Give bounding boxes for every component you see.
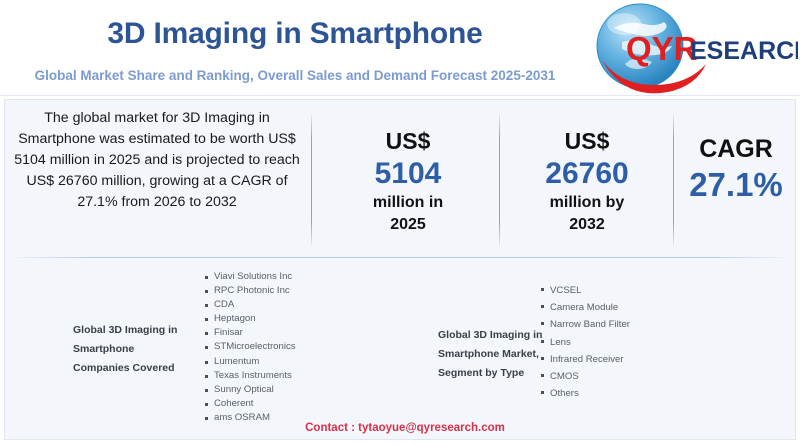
list-item: STMicroelectronics bbox=[205, 340, 296, 354]
logo-accent-text: QYR bbox=[626, 30, 698, 67]
companies-list: Viavi Solutions Inc RPC Photonic Inc CDA… bbox=[205, 270, 296, 425]
list-item: Texas Instruments bbox=[205, 369, 296, 383]
divider-vertical-2 bbox=[499, 114, 500, 246]
list-item: Heptagon bbox=[205, 312, 296, 326]
content-card: The global market for 3D Imaging in Smar… bbox=[4, 99, 796, 440]
stat-currency-label: US$ bbox=[507, 126, 667, 156]
companies-block: Global 3D Imaging in Smartphone Companie… bbox=[5, 258, 405, 439]
companies-label: Global 3D Imaging in Smartphone Companie… bbox=[73, 321, 201, 378]
list-item: CDA bbox=[205, 298, 296, 312]
stat-value: 5104 bbox=[323, 156, 493, 192]
stat-sub-line1: million in bbox=[323, 192, 493, 214]
list-item: Others bbox=[541, 385, 630, 402]
page-subtitle: Global Market Share and Ranking, Overall… bbox=[0, 68, 590, 83]
stat-market-size-2025: US$ 5104 million in 2025 bbox=[323, 126, 493, 236]
page-title: 3D Imaging in Smartphone bbox=[0, 17, 590, 51]
header-text-group: 3D Imaging in Smartphone Global Market S… bbox=[0, 0, 590, 96]
stat-sub-line2: 2025 bbox=[323, 214, 493, 236]
companies-label-line3: Companies Covered bbox=[73, 359, 201, 378]
lists-row: Global 3D Imaging in Smartphone Companie… bbox=[5, 258, 795, 439]
stat-market-size-2032: US$ 26760 million by 2032 bbox=[507, 126, 667, 236]
list-item: Camera Module bbox=[541, 299, 630, 316]
divider-vertical-1 bbox=[311, 114, 312, 246]
qyresearch-logo: QYR ESEARCH bbox=[592, 2, 798, 94]
list-item: Sunny Optical bbox=[205, 383, 296, 397]
list-item: Lens bbox=[541, 334, 630, 351]
header: 3D Imaging in Smartphone Global Market S… bbox=[0, 0, 800, 96]
stats-row: The global market for 3D Imaging in Smar… bbox=[5, 100, 795, 257]
list-item: Coherent bbox=[205, 397, 296, 411]
stat-cagr-value: 27.1% bbox=[677, 164, 795, 206]
qyresearch-logo-graphic: QYR ESEARCH bbox=[592, 2, 798, 94]
stat-currency-label: US$ bbox=[323, 126, 493, 156]
logo-rest-text: ESEARCH bbox=[690, 37, 798, 65]
stat-cagr: CAGR 27.1% bbox=[677, 134, 795, 206]
list-item: VCSEL bbox=[541, 282, 630, 299]
companies-label-line2: Smartphone bbox=[73, 340, 201, 359]
divider-vertical-3 bbox=[673, 114, 674, 246]
summary-paragraph: The global market for 3D Imaging in Smar… bbox=[9, 108, 305, 213]
infographic-poster: 3D Imaging in Smartphone Global Market S… bbox=[0, 0, 800, 444]
segments-list: VCSEL Camera Module Narrow Band Filter L… bbox=[541, 282, 630, 402]
stat-cagr-label: CAGR bbox=[677, 134, 795, 164]
list-item: Finisar bbox=[205, 326, 296, 340]
segments-block: Global 3D Imaging in Smartphone Market, … bbox=[405, 258, 795, 439]
stat-value: 26760 bbox=[507, 156, 667, 192]
list-item: CMOS bbox=[541, 368, 630, 385]
list-item: Lumentum bbox=[205, 355, 296, 369]
list-item: Infrared Receiver bbox=[541, 351, 630, 368]
list-item: Narrow Band Filter bbox=[541, 316, 630, 333]
stat-sub-line2: 2032 bbox=[507, 214, 667, 236]
contact-email[interactable]: Contact : tytaoyue@qyresearch.com bbox=[205, 422, 605, 434]
stat-sub-line1: million by bbox=[507, 192, 667, 214]
list-item: RPC Photonic Inc bbox=[205, 284, 296, 298]
list-item: Viavi Solutions Inc bbox=[205, 270, 296, 284]
companies-label-line1: Global 3D Imaging in bbox=[73, 321, 201, 340]
